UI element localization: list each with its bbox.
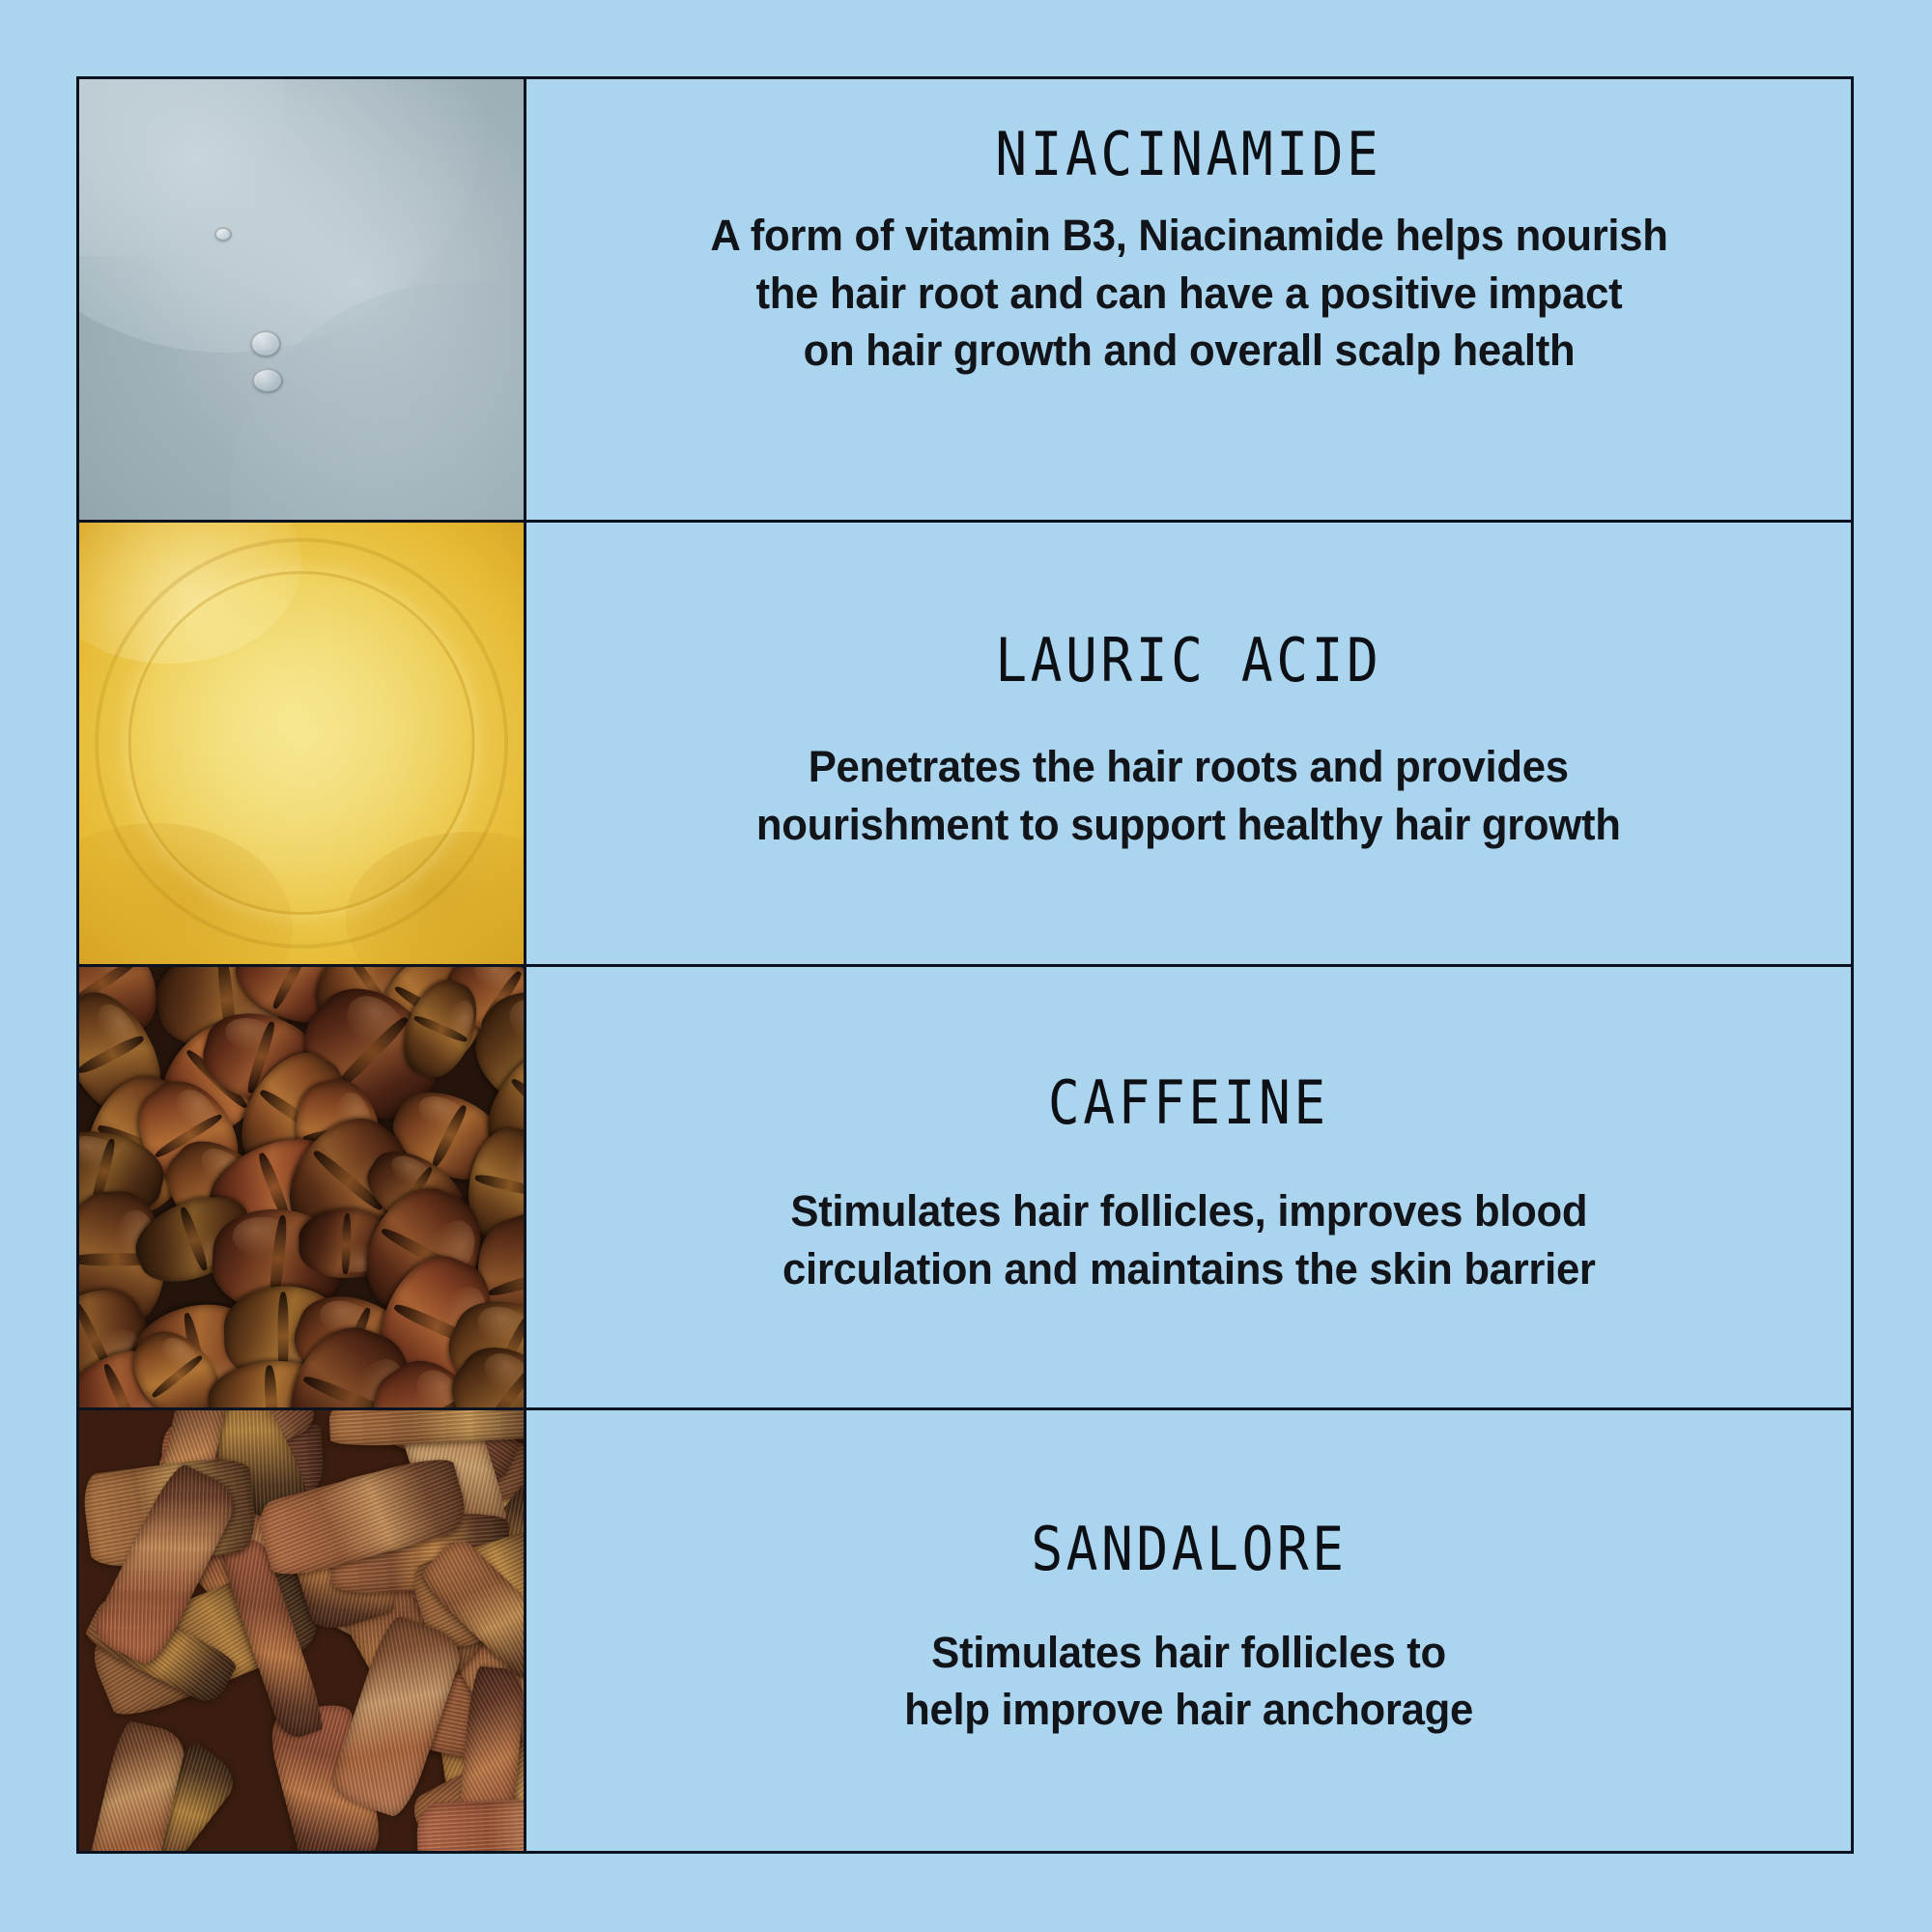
table-row: CAFFEINE Stimulates hair follicles, impr… [79,967,1851,1410]
ingredient-name: LAURIC ACID [995,630,1381,692]
sandalwood-chip-cluster [79,1410,524,1851]
ingredient-description: Stimulates hair follicles to help improv… [904,1624,1473,1739]
ingredient-name: NIACINAMIDE [995,124,1381,185]
bubble-icon [250,330,281,357]
bubble-icon [252,368,283,393]
ingredient-text-cell: CAFFEINE Stimulates hair follicles, impr… [526,967,1851,1407]
table-row: SANDALORE Stimulates hair follicles to h… [79,1410,1851,1851]
ingredient-text-cell: NIACINAMIDE A form of vitamin B3, Niacin… [526,79,1851,520]
ingredient-description: A form of vitamin B3, Niacinamide helps … [710,207,1667,379]
description-line: circulation and maintains the skin barri… [782,1240,1596,1297]
ingredient-swatch-cell [79,523,526,963]
ingredient-description: Penetrates the hair roots and provides n… [756,738,1621,853]
coffee-bean-cluster [79,967,524,1407]
ingredient-name: CAFFEINE [1048,1072,1329,1134]
table-row: LAURIC ACID Penetrates the hair roots an… [79,523,1851,966]
description-line: help improve hair anchorage [904,1681,1473,1738]
ingredient-description: Stimulates hair follicles, improves bloo… [782,1182,1596,1297]
ingredient-text-cell: LAURIC ACID Penetrates the hair roots an… [526,523,1851,963]
ingredient-text-cell: SANDALORE Stimulates hair follicles to h… [526,1410,1851,1851]
bubble-icon [214,227,232,241]
oil-inner-ring [128,571,475,915]
description-line: A form of vitamin B3, Niacinamide helps … [710,207,1667,264]
ingredients-infographic: NIACINAMIDE A form of vitamin B3, Niacin… [0,0,1932,1932]
ingredient-name: SANDALORE [1031,1519,1347,1580]
description-line: Penetrates the hair roots and provides [756,738,1621,795]
ingredient-swatch-cell [79,79,526,520]
sandalwood-chip [415,1796,524,1851]
description-line: on hair growth and overall scalp health [710,322,1667,379]
serum-corner-sheen [79,79,284,256]
golden-oil-image [79,523,524,963]
sandalwood-chips-image [79,1410,524,1851]
description-line: Stimulates hair follicles to [904,1624,1473,1681]
roasted-coffee-beans-image [79,967,524,1407]
description-line: nourishment to support healthy hair grow… [756,796,1621,853]
clear-serum-with-bubbles-image [79,79,524,520]
ingredient-swatch-cell [79,1410,526,1851]
description-line: Stimulates hair follicles, improves bloo… [782,1182,1596,1239]
ingredient-table: NIACINAMIDE A form of vitamin B3, Niacin… [76,76,1854,1854]
table-row: NIACINAMIDE A form of vitamin B3, Niacin… [79,79,1851,523]
ingredient-swatch-cell [79,967,526,1407]
description-line: the hair root and can have a positive im… [710,265,1667,322]
